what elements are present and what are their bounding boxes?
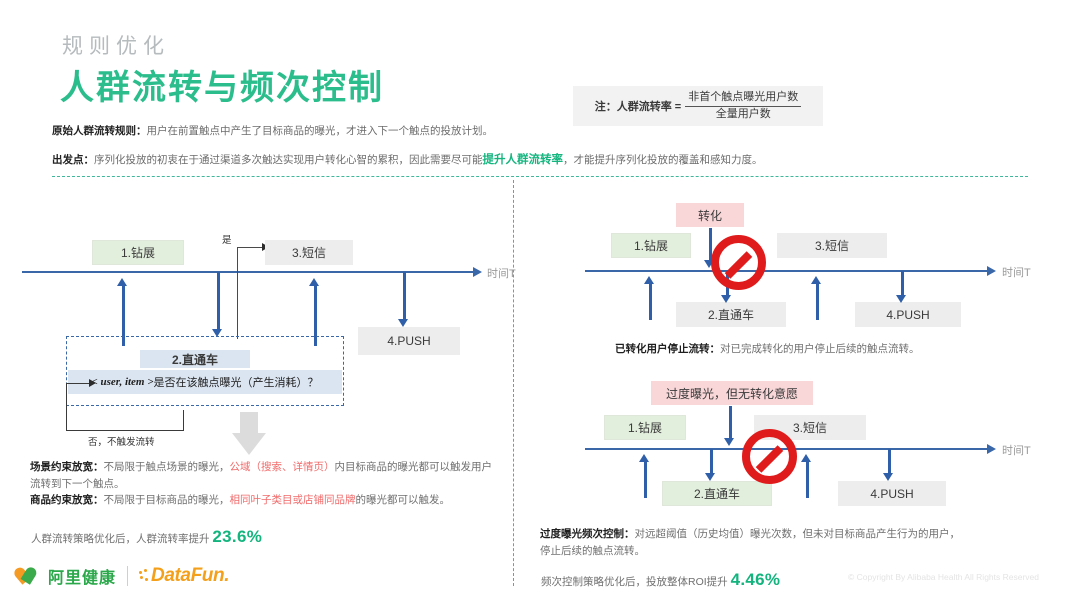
intro-paragraph-1-text: 用户在前置触点中产生了目标商品的曝光，才进入下一个触点的投放计划。	[147, 125, 494, 137]
decision-box-title-label: 2.直通车	[172, 351, 218, 368]
left-body-2-label: 商品约束放宽：	[30, 494, 104, 506]
datafun-dots-icon	[139, 569, 150, 583]
right-bottom-prohibition-slash	[756, 445, 784, 473]
left-node-3-label: 3.短信	[292, 244, 326, 261]
decision-box-question: < user, item >是否在该触点曝光（产生消耗）？	[68, 370, 342, 394]
yes-branch-stem	[237, 247, 238, 339]
right-top-node-1: 1.钻展	[611, 233, 691, 258]
right-bottom-timeline-arrowhead	[987, 444, 996, 454]
flow-down-arrow-head	[232, 433, 266, 455]
left-body-block-2: 商品约束放宽：不局限于目标商品的曝光，相同叶子类目或店铺同品牌的曝光都可以触发。	[30, 492, 508, 509]
formula-denominator: 全量用户数	[716, 107, 771, 122]
heart-check-icon	[16, 567, 37, 586]
left-stat-line: 人群流转策略优化后，人群流转率提升 23.6%	[31, 527, 262, 547]
right-top-arrow-4-stem	[901, 271, 904, 297]
right-bottom-timeline-label: 时间T	[1002, 442, 1031, 458]
right-bottom-stat-prefix: 频次控制策略优化后，投放整体ROI提升	[541, 576, 728, 588]
brand-name-en-text: DataFun.	[151, 565, 229, 586]
slide-kicker: 规则优化	[62, 30, 170, 60]
decision-question-text: 是否在该触点曝光（产生消耗）？	[154, 374, 319, 390]
right-top-arrow-1-stem	[649, 283, 652, 320]
right-top-node-1-label: 1.钻展	[634, 237, 668, 254]
right-bottom-node-1: 1.钻展	[604, 415, 686, 440]
right-top-arrow-4-head	[896, 295, 906, 303]
right-top-node-3: 3.短信	[777, 233, 887, 258]
right-bottom-arrow-3-stem	[806, 461, 809, 498]
yes-branch-label: 是	[222, 232, 232, 246]
intro-paragraph-1-label: 原始人群流转规则：	[52, 125, 147, 137]
formula-numerator: 非首个触点曝光用户数	[685, 91, 801, 107]
right-top-timeline-label: 时间T	[1002, 264, 1031, 280]
right-bottom-stat-line: 频次控制策略优化后，投放整体ROI提升 4.46%	[541, 570, 780, 590]
left-body-2-seg-2: 相同叶子类目或店铺同品牌	[230, 494, 356, 506]
right-top-arrow-2-head	[721, 295, 731, 303]
loop-back-bottom	[66, 430, 184, 431]
yes-branch-elbow	[237, 247, 263, 248]
right-bottom-stat-value: 4.46%	[731, 570, 781, 589]
left-node-1-label: 1.钻展	[121, 244, 155, 261]
left-body-1-seg-1: 不局限于触点场景的曝光，	[104, 461, 230, 473]
formula-note-label: 注：人群流转率 =	[595, 98, 681, 114]
decision-question-variable: < user, item >	[91, 376, 153, 388]
right-top-prohibition-slash	[725, 251, 753, 279]
page-title: 人群流转与频次控制	[60, 60, 384, 109]
left-body-1-seg-3: 内目标商品的曝光都可	[335, 461, 440, 473]
right-bottom-caption-text-2: 停止后续的触点流转。	[540, 545, 645, 557]
left-timeline-axis	[22, 271, 474, 273]
right-bottom-banner-label: 过度曝光，但无转化意愿	[666, 385, 798, 402]
right-top-caption: 已转化用户停止流转：对已完成转化的用户停止后续的触点流转。	[615, 341, 920, 358]
left-body-2-seg-1: 不局限于目标商品的曝光，	[104, 494, 230, 506]
right-top-arrow-3-stem	[816, 283, 819, 320]
right-bottom-node-3-label: 3.短信	[793, 419, 827, 436]
right-bottom-node-4: 4.PUSH	[838, 481, 946, 506]
right-bottom-caption-label: 过度曝光频次控制：	[540, 528, 635, 540]
right-top-caption-label: 已转化用户停止流转：	[615, 343, 720, 355]
intro-paragraph-1: 原始人群流转规则：用户在前置触点中产生了目标商品的曝光，才进入下一个触点的投放计…	[52, 124, 493, 140]
intro-paragraph-2-label: 出发点：	[52, 154, 94, 166]
right-top-prohibition-icon	[711, 235, 766, 290]
right-top-timeline-axis	[585, 270, 988, 272]
right-top-node-2: 2.直通车	[676, 302, 786, 327]
right-bottom-node-2: 2.直通车	[662, 481, 772, 506]
left-timeline-arrowhead	[473, 267, 482, 277]
right-bottom-node-4-label: 4.PUSH	[870, 487, 913, 501]
loop-back-right-stem	[183, 410, 184, 431]
brand-name-en: DataFun.	[139, 565, 229, 587]
left-arrow-4-stem	[403, 272, 406, 320]
loop-back-top	[66, 383, 90, 384]
right-top-arrow-1-head	[644, 276, 654, 284]
right-bottom-arrow-3-head	[801, 454, 811, 462]
left-body-2-seg-3: 的曝光都可以触发。	[356, 494, 451, 506]
right-top-banner: 转化	[676, 203, 744, 227]
right-bottom-caption: 过度曝光频次控制：对远超阈值（历史均值）曝光次数，但未对目标商品产生行为的用户，…	[540, 526, 960, 560]
right-bottom-prohibition-icon	[742, 429, 797, 484]
right-top-caption-text: 对已完成转化的用户停止后续的触点流转。	[720, 343, 920, 355]
horizontal-dashed-divider	[52, 176, 1028, 177]
left-stat-value: 23.6%	[212, 527, 262, 546]
right-top-node-2-label: 2.直通车	[708, 306, 754, 323]
right-bottom-banner: 过度曝光，但无转化意愿	[651, 381, 813, 405]
intro-paragraph-2-text-a: 序列化投放的初衷在于通过渠道多次触达实现用户转化心智的累积，因此需要尽可能	[94, 154, 483, 166]
right-top-arrow-3-head	[811, 276, 821, 284]
right-top-node-4-label: 4.PUSH	[886, 308, 929, 322]
left-node-4-label: 4.PUSH	[387, 334, 430, 348]
loop-back-arrowhead	[89, 379, 96, 387]
formula-fraction: 非首个触点曝光用户数 全量用户数	[685, 91, 801, 122]
footer-logos: 阿里健康 DataFun.	[16, 564, 229, 588]
brand-name-cn: 阿里健康	[48, 564, 116, 588]
left-arrow-4-head	[398, 319, 408, 327]
left-body-1-seg-2: 公域（搜索、详情页）	[230, 461, 335, 473]
right-top-node-3-label: 3.短信	[815, 237, 849, 254]
left-node-1: 1.钻展	[92, 240, 184, 265]
loop-back-left-stem	[66, 383, 67, 431]
left-body-block-1: 场景约束放宽：不局限于触点场景的曝光，公域（搜索、详情页）内目标商品的曝光都可以…	[30, 459, 500, 493]
intro-highlight: 提升人群流转率	[483, 154, 564, 166]
left-timeline-label: 时间T	[487, 265, 516, 281]
right-bottom-banner-arrow-head	[724, 438, 734, 446]
left-arrow-2-stem	[217, 272, 220, 330]
right-bottom-arrow-1-head	[639, 454, 649, 462]
decision-box-title: 2.直通车	[140, 350, 250, 368]
right-bottom-arrow-2-stem	[710, 449, 713, 475]
right-bottom-node-1-label: 1.钻展	[628, 419, 662, 436]
loop-back-label: 否，不触发流转	[88, 434, 155, 448]
flow-down-arrow-stem	[240, 412, 258, 434]
left-stat-prefix: 人群流转策略优化后，人群流转率提升	[31, 533, 210, 545]
formula-note-box: 注：人群流转率 = 非首个触点曝光用户数 全量用户数	[573, 86, 823, 126]
left-body-1-label: 场景约束放宽：	[30, 461, 104, 473]
right-bottom-banner-arrow-stem	[729, 406, 732, 439]
left-arrow-3-head	[309, 278, 319, 286]
right-bottom-caption-text-1: 对远超阈值（历史均值）曝光次数，但未对目标商品产生行为的用户，	[635, 528, 961, 540]
right-top-timeline-arrowhead	[987, 266, 996, 276]
vertical-dashed-divider	[513, 180, 514, 586]
intro-paragraph-2: 出发点：序列化投放的初衷在于通过渠道多次触达实现用户转化心智的累积，因此需要尽可…	[52, 152, 763, 169]
right-bottom-arrow-1-stem	[644, 461, 647, 498]
footer-divider	[127, 566, 128, 586]
left-node-3: 3.短信	[265, 240, 353, 265]
copyright-text: © Copyright By Alibaba Health All Rights…	[848, 572, 1039, 582]
right-bottom-arrow-4-stem	[888, 449, 891, 475]
right-bottom-node-2-label: 2.直通车	[694, 485, 740, 502]
right-top-node-4: 4.PUSH	[855, 302, 961, 327]
right-top-banner-label: 转化	[698, 207, 722, 224]
left-node-4: 4.PUSH	[358, 327, 460, 355]
right-bottom-arrow-4-head	[883, 473, 893, 481]
slide-canvas: 规则优化 人群流转与频次控制 注：人群流转率 = 非首个触点曝光用户数 全量用户…	[0, 0, 1080, 608]
right-bottom-arrow-2-head	[705, 473, 715, 481]
intro-paragraph-2-text-b: ，才能提升序列化投放的覆盖和感知力度。	[563, 154, 763, 166]
left-arrow-1-head	[117, 278, 127, 286]
